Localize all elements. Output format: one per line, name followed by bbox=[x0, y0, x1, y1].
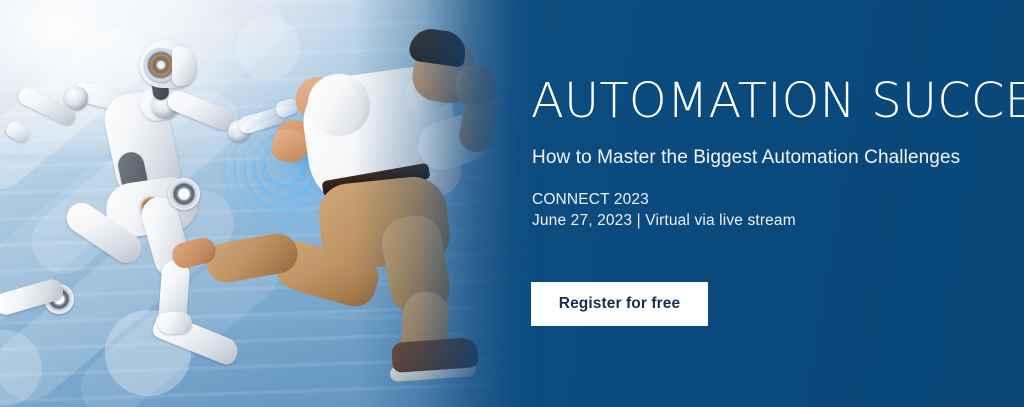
register-for-free-button[interactable]: Register for free bbox=[531, 282, 708, 326]
hero-photo bbox=[0, 0, 545, 407]
robot-ankle-detail bbox=[158, 312, 192, 334]
event-details: June 27, 2023 | Virtual via live stream bbox=[532, 210, 796, 231]
banner-subtitle: How to Master the Biggest Automation Cha… bbox=[532, 147, 960, 169]
banner-content: AUTOMATION SUCCESS How to Master the Big… bbox=[531, 0, 1024, 407]
robot-front-upper-arm bbox=[165, 88, 238, 134]
robot-face-plate bbox=[172, 46, 196, 86]
event-name: CONNECT 2023 bbox=[532, 189, 796, 210]
photo-to-panel-fade bbox=[355, 0, 545, 407]
robot-rear-hand bbox=[4, 119, 33, 145]
robot-front-knee-joint bbox=[168, 178, 200, 210]
banner-title: AUTOMATION SUCCESS bbox=[531, 77, 1024, 125]
event-meta: CONNECT 2023 June 27, 2023 | Virtual via… bbox=[532, 189, 796, 231]
automation-success-banner: AUTOMATION SUCCESS How to Master the Big… bbox=[0, 0, 1024, 407]
